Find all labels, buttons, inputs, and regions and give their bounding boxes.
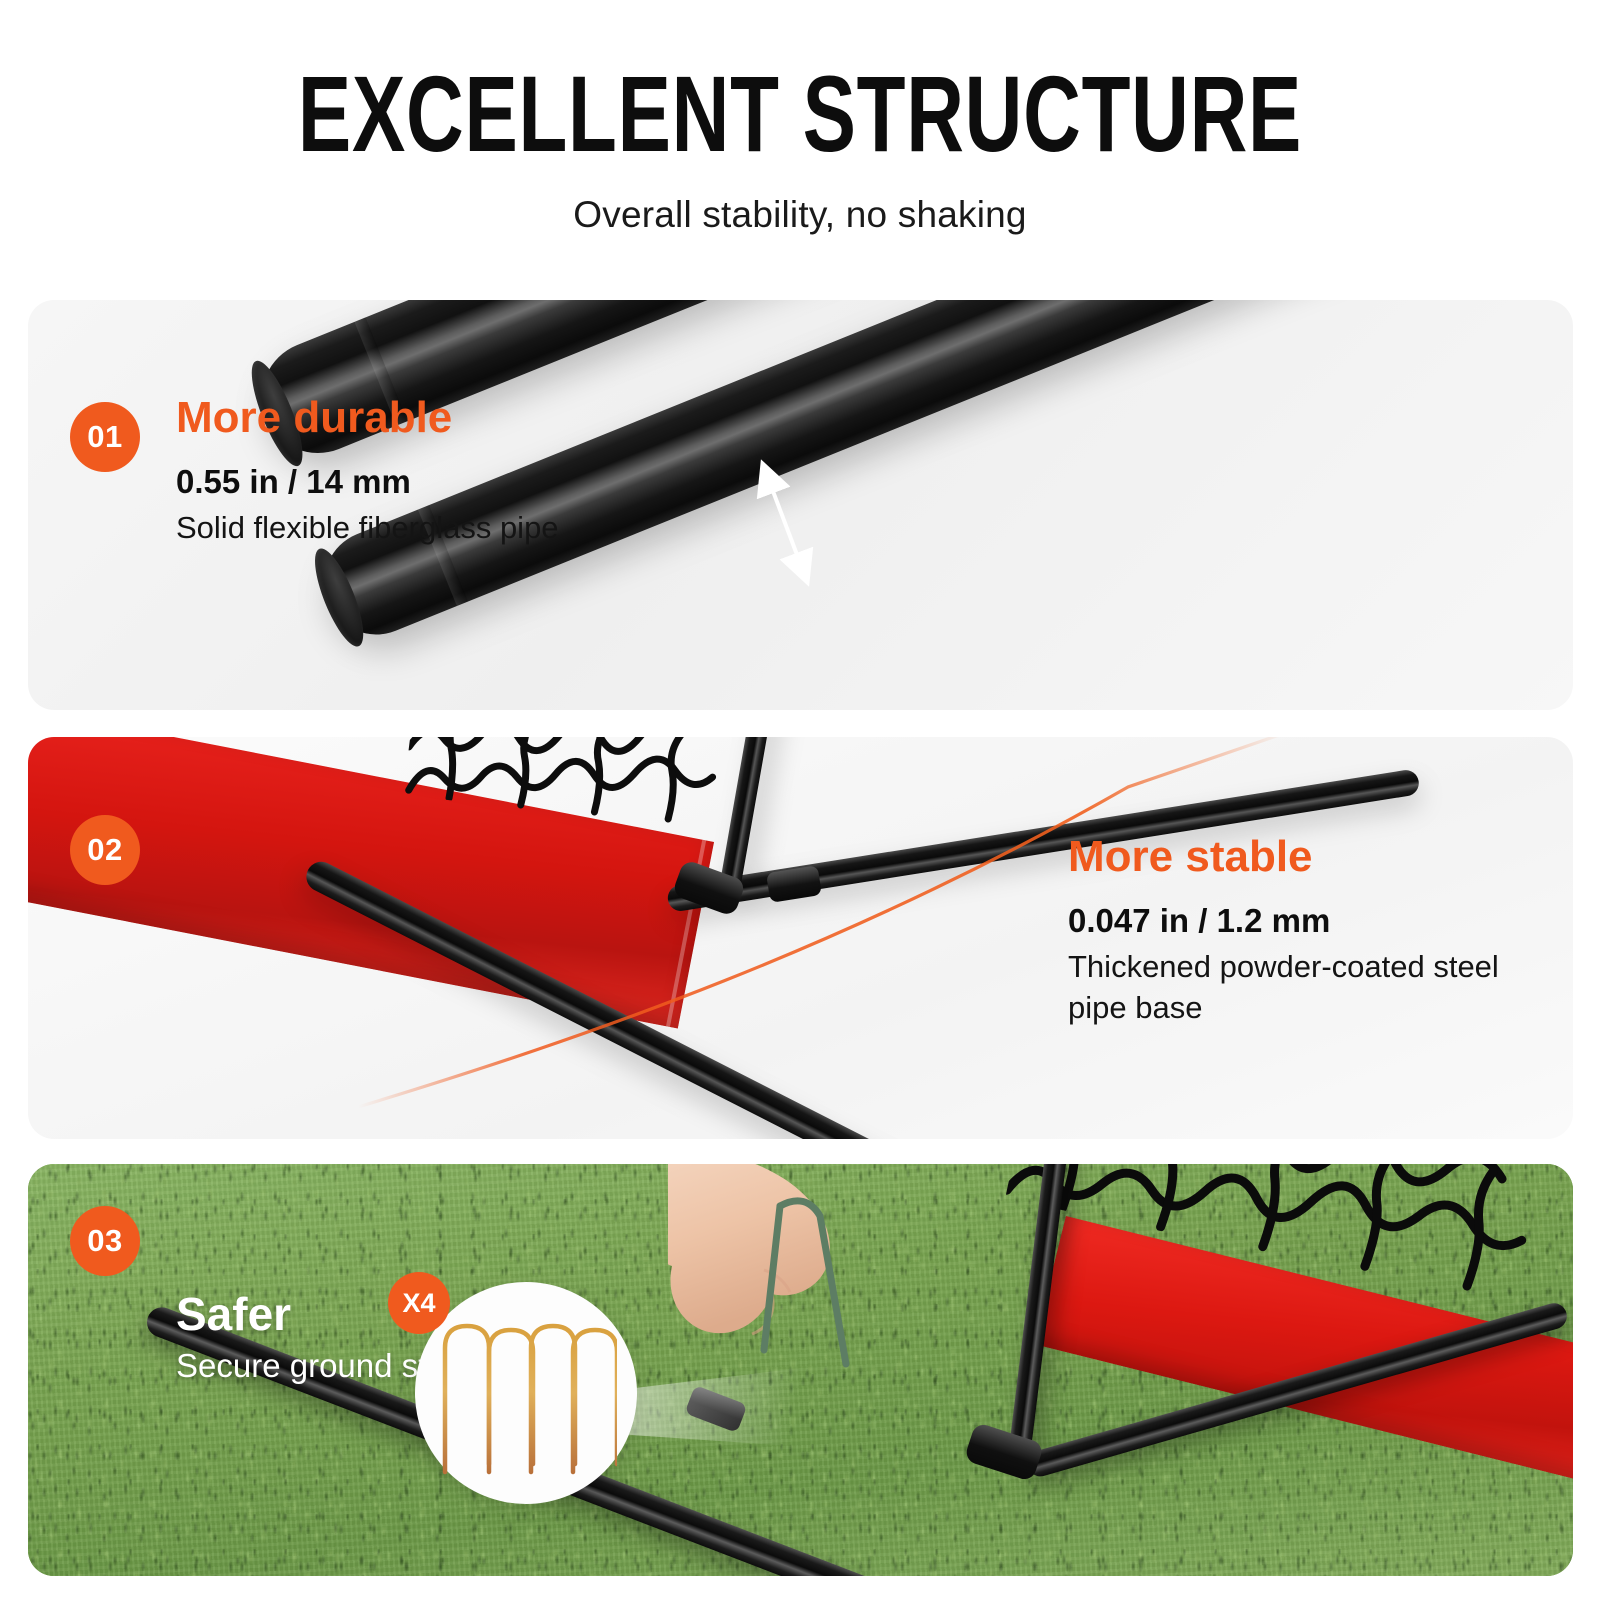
page-subtitle: Overall stability, no shaking	[0, 194, 1600, 236]
feature-description: Thickened powder-coated steel pipe base	[1068, 946, 1538, 1028]
step-badge-01: 01	[70, 402, 140, 472]
page-header: EXCELLENT STRUCTURE Overall stability, n…	[0, 0, 1600, 236]
step-badge-number: 01	[87, 419, 122, 455]
page-title: EXCELLENT STRUCTURE	[208, 62, 1392, 166]
hand-holding-stake-icon	[668, 1164, 948, 1434]
feature-spec: 0.55 in / 14 mm	[176, 461, 559, 502]
feature-title: More stable	[1068, 832, 1538, 882]
feature-card-03: X4 03 Safer Secure ground stakes	[28, 1164, 1573, 1576]
feature-card-02: 02 More stable 0.047 in / 1.2 mm Thicken…	[28, 737, 1573, 1139]
feature-title: More durable	[176, 393, 559, 443]
feature-description: Solid flexible fiberglass pipe	[176, 507, 559, 548]
step-badge-03: 03	[70, 1206, 140, 1276]
feature-card-01: 01 More durable 0.55 in / 14 mm Solid fl…	[28, 300, 1573, 710]
step-badge-number: 02	[87, 832, 122, 868]
stake-quantity-badge: X4	[388, 1272, 450, 1334]
feature-text-01: More durable 0.55 in / 14 mm Solid flexi…	[176, 393, 559, 548]
step-badge-number: 03	[87, 1223, 122, 1259]
stakes-callout-circle	[415, 1282, 637, 1504]
step-badge-02: 02	[70, 815, 140, 885]
feature-text-02: More stable 0.047 in / 1.2 mm Thickened …	[1068, 832, 1538, 1028]
ground-stakes-icon	[439, 1312, 617, 1482]
feature-spec: 0.047 in / 1.2 mm	[1068, 900, 1538, 941]
feature-card-list: 01 More durable 0.55 in / 14 mm Solid fl…	[28, 300, 1573, 1576]
stake-quantity-label: X4	[402, 1288, 435, 1319]
